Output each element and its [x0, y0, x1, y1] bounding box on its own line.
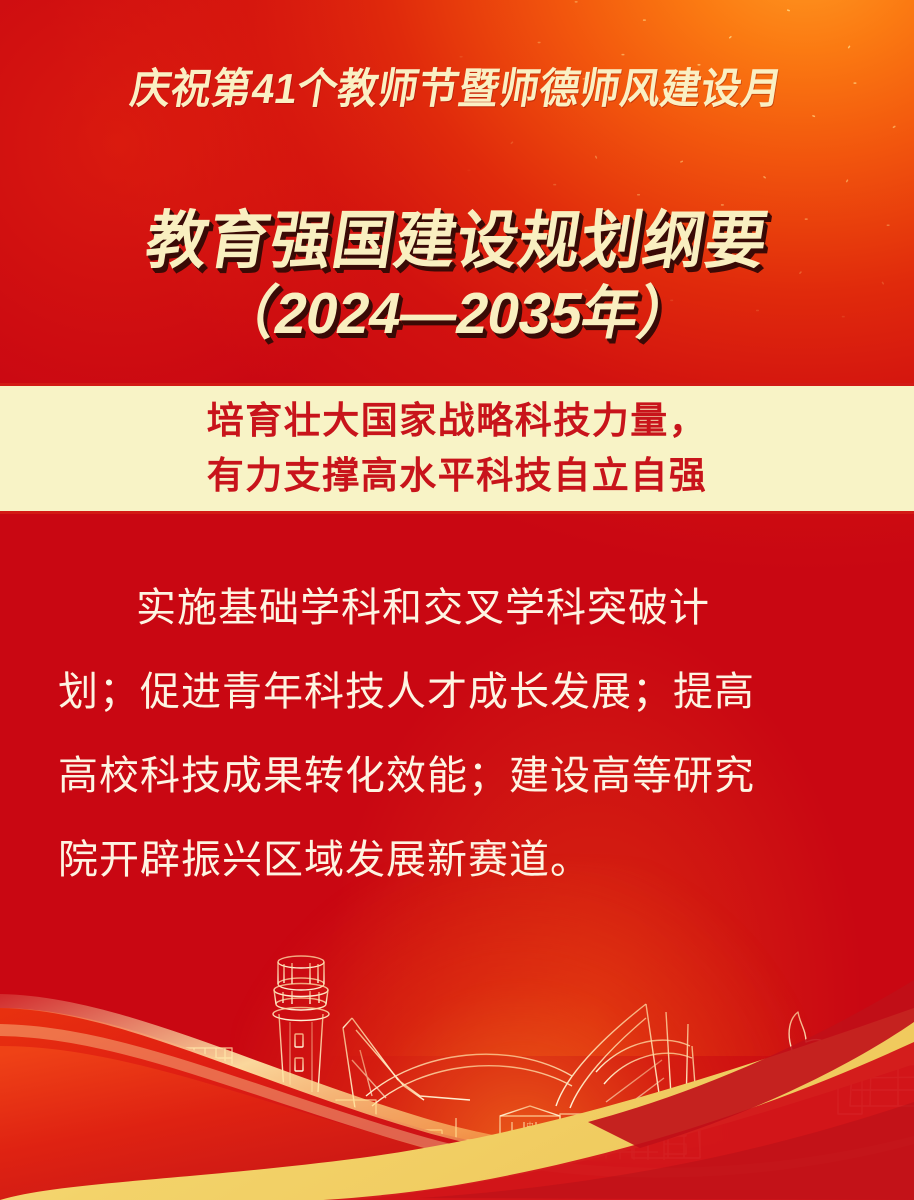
body-paragraph: 实施基础学科和交叉学科突破计 划；促进青年科技人才成长发展；提高 高校科技成果转… — [58, 566, 862, 902]
body-line-2: 划；促进青年科技人才成长发展；提高 — [58, 650, 862, 734]
body-line-1: 实施基础学科和交叉学科突破计 — [58, 566, 862, 650]
poster-canvas: 上海海事大学 中远图书馆 — [0, 0, 914, 1200]
page-title-years: （2024—2035年） — [7, 281, 906, 347]
ribbon-wave-decoration — [0, 950, 914, 1200]
eyebrow-text: 庆祝第41个教师节暨师德师风建设月 — [128, 66, 786, 111]
banner-line-1: 培育壮大国家战略科技力量， — [207, 394, 708, 448]
poster-title-block: 教育强国建设规划纲要 （2024—2035年） — [0, 206, 914, 347]
banner-line-2: 有力支撑高水平科技自立自强 — [207, 449, 708, 503]
highlight-banner: 培育壮大国家战略科技力量， 有力支撑高水平科技自立自强 — [0, 383, 914, 514]
page-title: 教育强国建设规划纲要 — [8, 206, 906, 277]
body-line-4: 院开辟振兴区域发展新赛道。 — [58, 818, 862, 902]
celebration-eyebrow: 庆祝第41个教师节暨师德师风建设月 — [0, 66, 914, 111]
body-line-3: 高校科技成果转化效能；建设高等研究 — [58, 734, 862, 818]
